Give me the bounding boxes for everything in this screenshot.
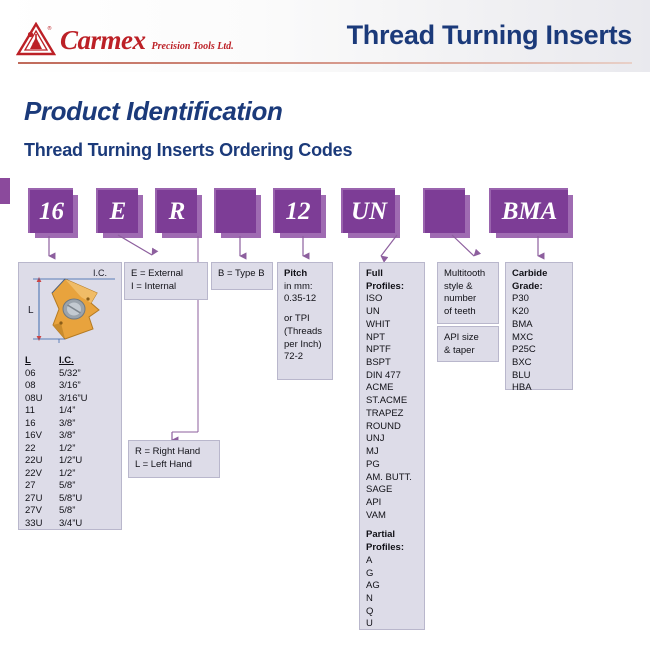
table-row: 08 3/16” [25, 380, 117, 393]
grade-item: K20 [512, 306, 566, 319]
col-header-l: L [25, 355, 59, 368]
carmex-triangle-logo-icon: ® [16, 22, 56, 56]
code-box-hand[interactable]: R [155, 188, 197, 233]
profile-item: API [366, 497, 418, 510]
page-header: ® Carmex Precision Tools Ltd. Thread Tur… [0, 0, 650, 72]
table-header-row: L I.C. [25, 355, 117, 368]
table-row: 16 3/8” [25, 418, 117, 431]
code-box-pitch[interactable]: 12 [273, 188, 321, 233]
header-divider [18, 62, 632, 64]
svg-text:L: L [28, 305, 34, 316]
carbide-grade-panel: Carbide Grade: P30 K20 BMA MXC P25C BXC … [505, 262, 573, 390]
code-box-multitooth[interactable] [423, 188, 465, 233]
partial-profile-item: U [366, 618, 418, 631]
pitch-heading: Pitch [284, 268, 326, 281]
table-row: 11 1/4” [25, 405, 117, 418]
profile-item: ACME [366, 382, 418, 395]
table-row: 16V 3/8” [25, 430, 117, 443]
grade-item: BLU [512, 370, 566, 383]
profile-item: VAM [366, 510, 418, 523]
grade-item: MXC [512, 332, 566, 345]
partial-profile-item: A [366, 555, 418, 568]
table-row: 27U 5/8”U [25, 493, 117, 506]
brand-tagline: Precision Tools Ltd. [150, 42, 234, 56]
partial-profile-item: Q [366, 606, 418, 619]
insert-figure: L I.C. [19, 263, 121, 355]
pitch-panel: Pitch in mm: 0.35-12 or TPI (Threads per… [277, 262, 333, 380]
code-box-type[interactable] [214, 188, 256, 233]
partial-profile-item: AG [366, 580, 418, 593]
profile-item: UN [366, 306, 418, 319]
type-b-line: B = Type B [218, 268, 266, 281]
table-row: 08U 3/16”U [25, 393, 117, 406]
profile-item: AM. BUTT. [366, 472, 418, 485]
page-subtitle: Thread Turning Inserts Ordering Codes [24, 140, 352, 161]
table-row: 06 5/32” [25, 368, 117, 381]
code-box-size[interactable]: 16 [28, 188, 73, 233]
brand-wordmark: Carmex [60, 27, 146, 56]
code-box-profile[interactable]: UN [341, 188, 395, 233]
profile-item: ST.ACME [366, 395, 418, 408]
col-header-ic: I.C. [59, 355, 74, 368]
profile-item: TRAPEZ [366, 408, 418, 421]
profile-item: UNJ [366, 433, 418, 446]
insert-dimensions-panel: L I.C. L I.C. 06 5/32” 08 3/16” 08U 3/16… [18, 262, 122, 530]
grade-item: BMA [512, 319, 566, 332]
profile-item: NPTF [366, 344, 418, 357]
profile-item: WHIT [366, 319, 418, 332]
profile-item: NPT [366, 332, 418, 345]
grade-heading: Carbide [512, 268, 566, 281]
table-row: 22V 1/2” [25, 468, 117, 481]
type-panel: B = Type B [211, 262, 273, 290]
ei-external-line: E = External [131, 268, 201, 281]
accent-bar [0, 178, 10, 204]
ei-internal-line: I = Internal [131, 281, 201, 294]
table-row: 33U 3/4”U [25, 518, 117, 531]
profiles-panel: Full Profiles: ISO UN WHIT NPT NPTF BSPT… [359, 262, 425, 630]
api-panel: API size & taper [437, 326, 499, 362]
code-box-direction[interactable]: E [96, 188, 138, 233]
profile-item: ISO [366, 293, 418, 306]
partial-profile-item: N [366, 593, 418, 606]
profile-item: ROUND [366, 421, 418, 434]
page-title: Product Identification [24, 96, 282, 127]
partial-profiles-heading: Partial [366, 529, 418, 542]
right-hand-line: R = Right Hand [135, 446, 213, 459]
profile-item: SAGE [366, 484, 418, 497]
left-hand-line: L = Left Hand [135, 459, 213, 472]
table-row: 27 5/8” [25, 480, 117, 493]
grade-item: BXC [512, 357, 566, 370]
hand-panel: R = Right Hand L = Left Hand [128, 440, 220, 478]
brand-logo: ® Carmex Precision Tools Ltd. [16, 22, 234, 56]
grade-item: P30 [512, 293, 566, 306]
code-box-grade[interactable]: BMA [489, 188, 568, 233]
profile-item: PG [366, 459, 418, 472]
svg-text:I.C.: I.C. [93, 268, 107, 278]
table-row: 22U 1/2”U [25, 455, 117, 468]
multitooth-panel: Multitooth style & number of teeth [437, 262, 499, 324]
header-title: Thread Turning Inserts [347, 20, 632, 51]
partial-profile-item: G [366, 568, 418, 581]
grade-item: P25C [512, 344, 566, 357]
profile-item: BSPT [366, 357, 418, 370]
svg-text:®: ® [47, 25, 52, 32]
external-internal-panel: E = External I = Internal [124, 262, 208, 300]
table-row: 27V 5/8” [25, 505, 117, 518]
grade-item: HBA [512, 382, 566, 395]
profile-item: MJ [366, 446, 418, 459]
table-row: 22 1/2” [25, 443, 117, 456]
size-table: L I.C. 06 5/32” 08 3/16” 08U 3/16”U 11 1… [25, 355, 117, 530]
profile-item: DIN 477 [366, 370, 418, 383]
full-profiles-heading: Full [366, 268, 418, 281]
